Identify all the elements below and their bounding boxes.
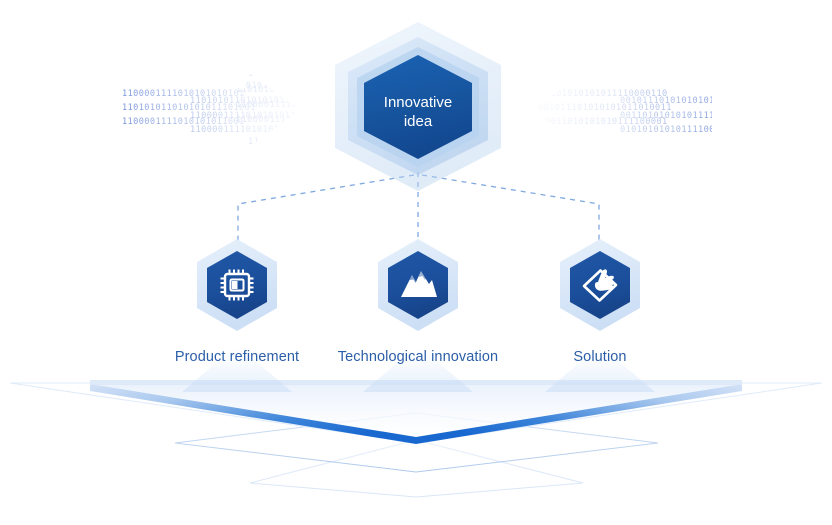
node-solution[interactable]	[560, 239, 640, 331]
node-label-product-refinement: Product refinement	[175, 349, 299, 365]
node-label-technological-innovation: Technological innovation	[338, 349, 498, 365]
node-technological-innovation[interactable]	[378, 239, 458, 331]
node-label-solution-wrap: Solution	[480, 348, 720, 366]
node-product-refinement[interactable]	[197, 239, 277, 331]
node-layer[interactable]	[0, 0, 832, 525]
diagram-canvas: 11 1100001111010101010101 11010101101010…	[0, 0, 832, 525]
cpu-chip-icon	[221, 270, 254, 301]
node-label-solution: Solution	[573, 349, 626, 365]
